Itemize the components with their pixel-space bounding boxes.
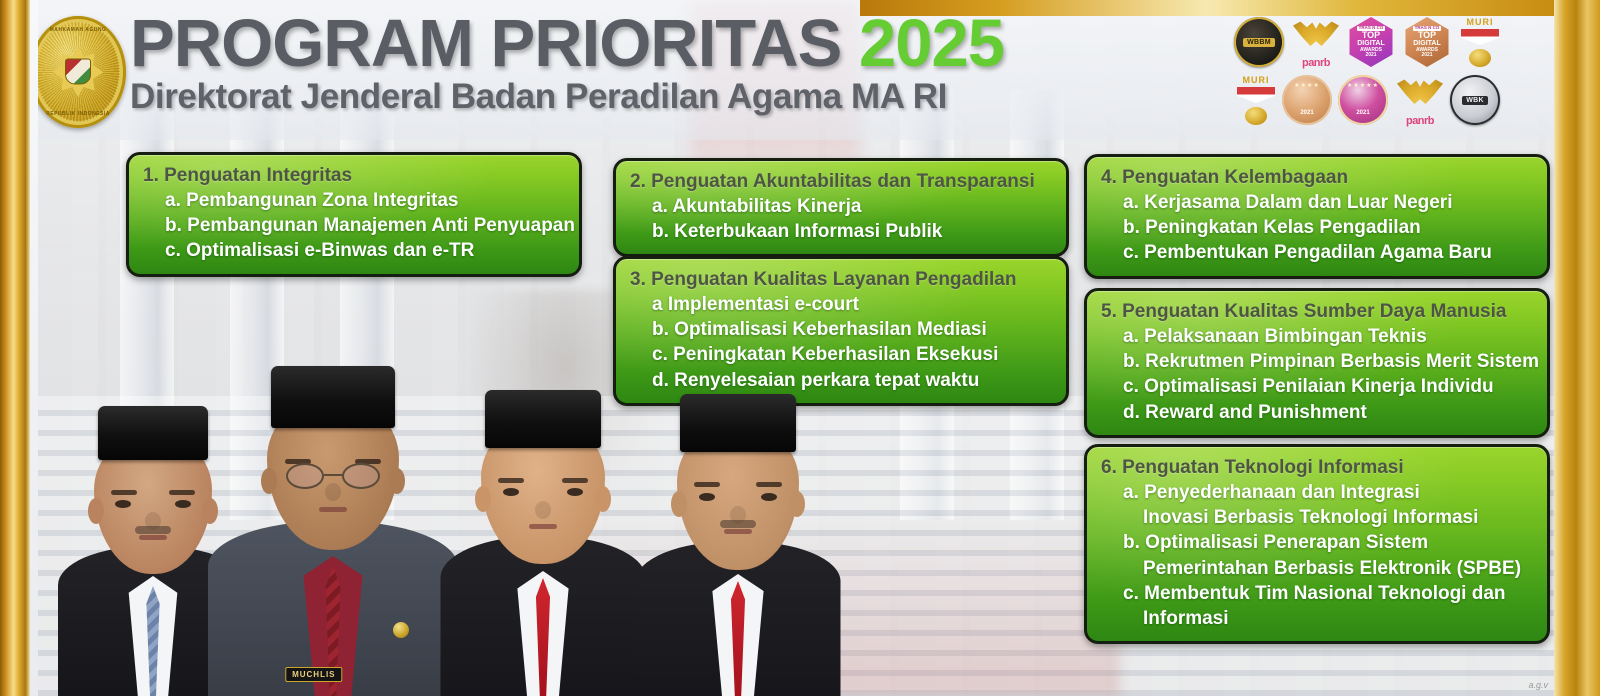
- poster-title-text: PROGRAM PRIORITAS: [130, 6, 841, 81]
- top-digital-copper-line4: 2021: [1421, 53, 1432, 58]
- emblem-shield: [65, 58, 91, 84]
- program-card-item: a. Pelaksanaan Bimbingan Teknis: [1101, 324, 1533, 349]
- watermark-text: a.g.v: [1528, 680, 1548, 690]
- muri-award-badge: MURI: [1458, 17, 1502, 69]
- official-2-lapel-pin: [393, 622, 409, 638]
- official-3-brow-left: [498, 478, 524, 483]
- officials-photo-group: MUCHLIS: [38, 376, 868, 696]
- award-badges-row-2: MURI ★★★★ 2021 ★★★★★ 2021: [1222, 72, 1502, 130]
- emblem-bottom-text: REPUBLIK INDONESIA: [30, 111, 126, 117]
- official-2-mouth: [319, 507, 347, 512]
- official-2-nametag: MUCHLIS: [285, 667, 342, 682]
- official-2-nose: [325, 483, 341, 501]
- official-4-moustache: [720, 520, 756, 528]
- program-card-4[interactable]: 4. Penguatan Kelembagaana. Kerjasama Dal…: [1084, 154, 1550, 279]
- official-2-ear-left: [261, 468, 277, 494]
- program-card-5[interactable]: 5. Penguatan Kualitas Sumber Daya Manusi…: [1084, 288, 1550, 438]
- magenta-badge-stars: ★★★★★: [1347, 82, 1379, 89]
- program-card-6[interactable]: 6. Penguatan Teknologi Informasia. Penye…: [1084, 444, 1550, 644]
- award-badges-row-1: WBBM panrb TRAS N CO TOP DIGITAL AWARDS …: [1222, 14, 1502, 72]
- wbk-badge: WBK: [1450, 75, 1502, 127]
- official-4-ear-right: [789, 491, 805, 517]
- official-photo-2: MUCHLIS: [213, 376, 453, 696]
- program-card-item: c. Pembentukan Pengadilan Agama Baru: [1101, 240, 1533, 265]
- magenta-award-badge: ★★★★★ 2021: [1338, 75, 1390, 127]
- garuda-icon: [1293, 21, 1339, 47]
- panrb-label-2: panrb: [1394, 115, 1446, 127]
- official-4-eye-left: [699, 493, 715, 501]
- official-4-head: [669, 394, 807, 572]
- official-2-peci-cap: [271, 366, 395, 428]
- official-1-mouth: [139, 535, 167, 540]
- official-3-ear-right: [595, 486, 611, 512]
- official-photo-3: [443, 396, 643, 696]
- official-1-ear-left: [88, 498, 104, 524]
- emblem-top-text: MAHKAMAH AGUNG: [30, 27, 126, 33]
- official-1-eye-right: [175, 500, 191, 508]
- official-photo-4: [638, 396, 838, 696]
- copper-badge-year: 2021: [1300, 110, 1313, 116]
- program-card-item: c. Optimalisasi e-Binwas dan e-TR: [143, 238, 565, 263]
- magenta-badge-year: 2021: [1356, 110, 1369, 116]
- program-card-item: a. Akuntabilitas Kinerja: [630, 194, 1052, 219]
- poster-subtitle: Direktorat Jenderal Badan Peradilan Agam…: [130, 79, 1004, 116]
- official-3-peci-cap: [485, 390, 601, 448]
- official-1-brow-right: [169, 490, 195, 495]
- official-3-brow-right: [562, 478, 588, 483]
- top-digital-line4: 2021: [1365, 53, 1376, 58]
- official-1-eye-left: [115, 500, 131, 508]
- inner-left-edge: [30, 0, 38, 696]
- official-4-brow-right: [756, 482, 782, 487]
- gold-top-border: [860, 0, 1554, 16]
- gold-left-border: [0, 0, 30, 696]
- program-card-item: a. Kerjasama Dalam dan Luar Negeri: [1101, 190, 1533, 215]
- mahkamah-agung-emblem-icon: MAHKAMAH AGUNG REPUBLIK INDONESIA: [30, 16, 126, 128]
- copper-badge-stars: ★★★★: [1294, 82, 1320, 89]
- official-2-head: [259, 366, 407, 556]
- panrb-label: panrb: [1290, 57, 1342, 69]
- official-3-nose: [535, 501, 551, 519]
- program-card-item: a Implementasi e-court: [630, 292, 1052, 317]
- official-3-ear-left: [475, 486, 491, 512]
- program-card-title: 3. Penguatan Kualitas Layanan Pengadilan: [630, 268, 1052, 292]
- panrb-garuda-badge: panrb: [1290, 17, 1342, 69]
- official-1-brow-left: [111, 490, 137, 495]
- official-1-moustache: [135, 526, 171, 534]
- program-card-2[interactable]: 2. Penguatan Akuntabilitas dan Transpara…: [613, 158, 1069, 257]
- program-card-title: 2. Penguatan Akuntabilitas dan Transpara…: [630, 170, 1052, 194]
- program-card-title: 6. Penguatan Teknologi Informasi: [1101, 456, 1533, 480]
- program-card-title: 4. Penguatan Kelembagaan: [1101, 166, 1533, 190]
- official-4-mouth: [724, 529, 752, 534]
- official-3-eye-left: [503, 488, 519, 496]
- program-card-item: c. Membentuk Tim Nasional Teknologi dan: [1101, 581, 1533, 606]
- official-4-peci-cap: [680, 394, 796, 452]
- top-digital-awards-copper-badge: TRAS N CO TOP DIGITAL AWARDS 2021: [1402, 17, 1454, 69]
- award-badges: WBBM panrb TRAS N CO TOP DIGITAL AWARDS …: [1222, 14, 1502, 132]
- muri-ribbon-icon-2: [1237, 87, 1275, 103]
- poster-title: PROGRAM PRIORITAS 2025: [130, 10, 1004, 77]
- program-card-item: b. Optimalisasi Keberhasilan Mediasi: [630, 317, 1052, 342]
- official-3-eye-right: [567, 488, 583, 496]
- muri-label-2: MURI: [1234, 75, 1278, 85]
- program-card-title: 5. Penguatan Kualitas Sumber Daya Manusi…: [1101, 300, 1533, 324]
- program-card-item: c. Optimalisasi Penilaian Kinerja Indivi…: [1101, 374, 1533, 399]
- muri-label: MURI: [1458, 17, 1502, 27]
- program-prioritas-poster: MAHKAMAH AGUNG REPUBLIK INDONESIA PROGRA…: [0, 0, 1600, 696]
- panrb-garuda-badge-2: panrb: [1394, 75, 1446, 127]
- official-2-ear-right: [389, 468, 405, 494]
- top-digital-line1: TOP: [1362, 31, 1380, 40]
- program-card-item: b. Peningkatan Kelas Pengadilan: [1101, 215, 1533, 240]
- program-card-item: Pemerintahan Berbasis Elektronik (SPBE): [1101, 556, 1533, 581]
- program-card-item: b. Optimalisasi Penerapan Sistem: [1101, 530, 1533, 555]
- muri-award-badge-2: MURI: [1234, 75, 1278, 127]
- program-card-item: Inovasi Berbasis Teknologi Informasi: [1101, 505, 1533, 530]
- muri-medal-icon: [1469, 49, 1491, 67]
- poster-header: MAHKAMAH AGUNG REPUBLIK INDONESIA PROGRA…: [30, 0, 1554, 140]
- program-card-item: b. Rekrutmen Pimpinan Berbasis Merit Sis…: [1101, 349, 1533, 374]
- garuda-icon-2: [1397, 79, 1443, 105]
- official-4-eye-right: [761, 493, 777, 501]
- official-1-peci-cap: [98, 406, 208, 460]
- wbbm-badge: WBBM: [1234, 17, 1286, 69]
- official-4-brow-left: [694, 482, 720, 487]
- official-4-ear-left: [671, 491, 687, 517]
- official-1-head: [88, 406, 218, 576]
- program-card-item: a. Penyederhanaan dan Integrasi: [1101, 480, 1533, 505]
- program-card-item: Informasi: [1101, 606, 1533, 631]
- program-card-item: d. Reward and Punishment: [1101, 400, 1533, 425]
- copper-award-badge: ★★★★ 2021: [1282, 75, 1334, 127]
- program-card-item: b. Pembangunan Manajemen Anti Penyuapan: [143, 213, 565, 238]
- wbk-badge-label: WBK: [1462, 96, 1488, 105]
- official-3-mouth: [529, 524, 557, 529]
- official-3-head: [474, 390, 612, 568]
- wbbm-badge-label: WBBM: [1243, 38, 1275, 47]
- program-card-item: a. Pembangunan Zona Integritas: [143, 188, 565, 213]
- muri-medal-icon-2: [1245, 107, 1267, 125]
- program-card-1[interactable]: 1. Penguatan Integritasa. Pembangunan Zo…: [126, 152, 582, 277]
- gold-right-border: [1554, 0, 1600, 696]
- poster-title-year: 2025: [859, 6, 1004, 81]
- program-card-item: b. Keterbukaan Informasi Publik: [630, 219, 1052, 244]
- title-block: PROGRAM PRIORITAS 2025 Direktorat Jender…: [130, 10, 1004, 116]
- program-card-title: 1. Penguatan Integritas: [143, 164, 565, 188]
- top-digital-awards-2021-badge: TRAS N CO TOP DIGITAL AWARDS 2021: [1346, 17, 1398, 69]
- muri-ribbon-icon: [1461, 29, 1499, 45]
- program-card-item: c. Peningkatan Keberhasilan Eksekusi: [630, 342, 1052, 367]
- top-digital-copper-line1: TOP: [1418, 31, 1436, 40]
